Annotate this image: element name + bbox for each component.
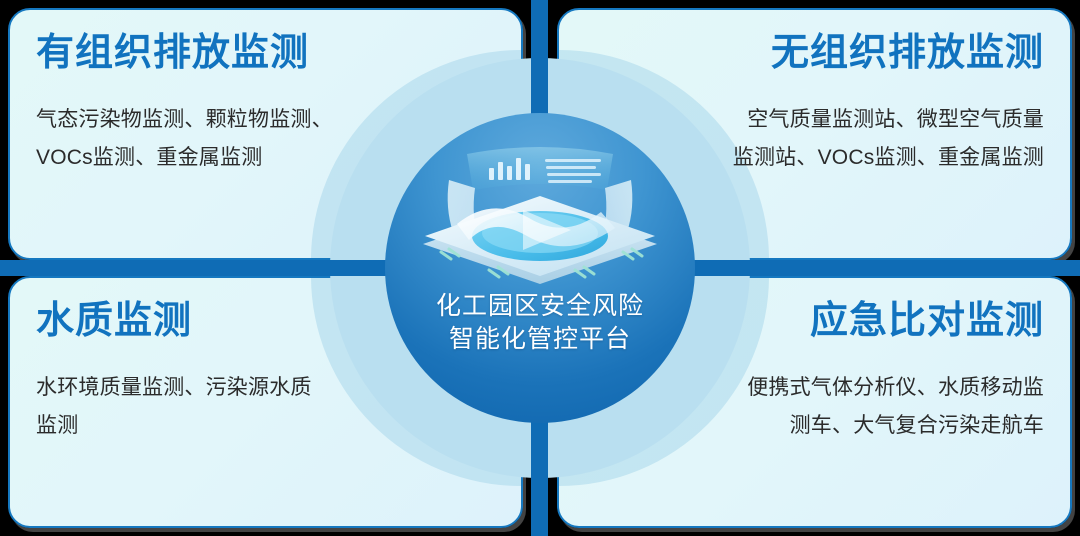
hub-label-line-1: 化工园区安全风险 <box>385 290 695 323</box>
dashboard-screen-icon <box>467 147 613 190</box>
infographic-canvas: 有组织排放监测 气态污染物监测、颗粒物监测、 VOCs监测、重金属监测 无组织排… <box>0 0 1080 536</box>
data-platform-illustration-icon <box>405 132 675 292</box>
hub-label-line-2: 智能化管控平台 <box>385 323 695 356</box>
quadrant-body-line: 气态污染物监测、颗粒物监测、 <box>36 101 436 140</box>
quadrant-title-top-left: 有组织排放监测 <box>36 32 495 75</box>
quadrant-title-top-right: 无组织排放监测 <box>585 32 1044 75</box>
connector-line-right <box>687 260 1080 276</box>
quadrant-body-line: 监测 <box>36 407 436 446</box>
hub-center-label: 化工园区安全风险 智能化管控平台 <box>385 290 695 356</box>
connector-line-left <box>0 260 393 276</box>
